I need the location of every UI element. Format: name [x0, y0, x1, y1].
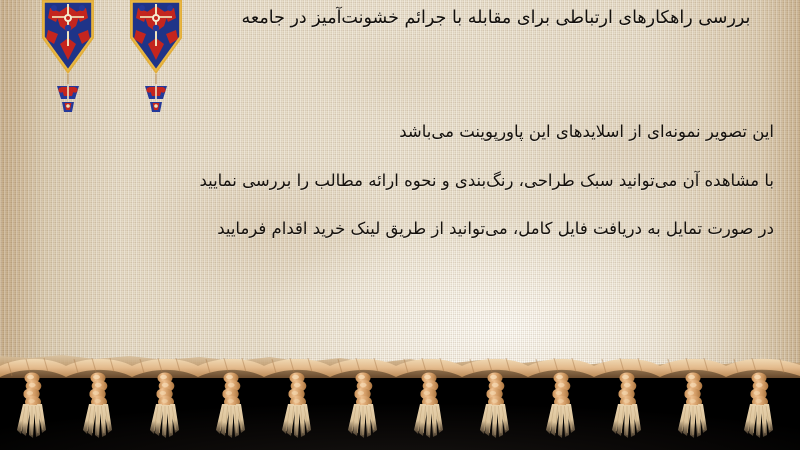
bottom-black-panel — [0, 366, 800, 450]
slide-title: بررسی راهکارهای ارتباطی برای مقابله با ج… — [216, 4, 776, 32]
body-line-3: در صورت تمایل به دریافت فایل کامل، می‌تو… — [26, 205, 774, 254]
slide-body: این تصویر نمونه‌ای از اسلایدهای این پاور… — [26, 108, 774, 254]
body-line-2: با مشاهده آن می‌توانید سبک طراحی، رنگ‌بن… — [26, 157, 774, 206]
presentation-slide: بررسی راهکارهای ارتباطی برای مقابله با ج… — [0, 0, 800, 450]
body-line-1: این تصویر نمونه‌ای از اسلایدهای این پاور… — [26, 108, 774, 157]
